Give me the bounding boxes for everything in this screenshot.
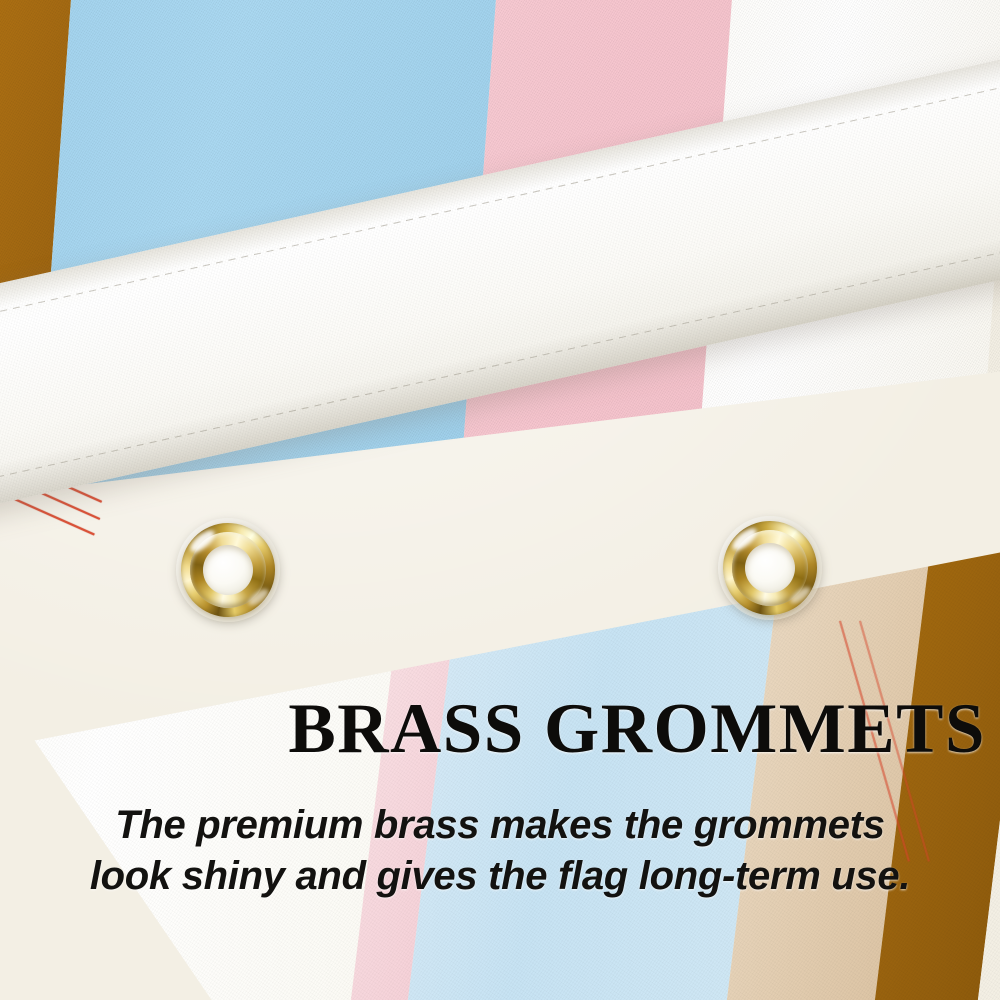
headline-text: BRASS GROMMETS — [0, 694, 986, 765]
brass-grommet-left[interactable] — [166, 508, 289, 631]
brass-grommet-right[interactable] — [708, 506, 831, 629]
subcopy-line-1: The premium brass makes the grommets — [0, 800, 1000, 851]
subcopy-text: The premium brass makes the grommets loo… — [0, 800, 1000, 902]
subcopy-line-2: look shiny and gives the flag long-term … — [0, 851, 1000, 902]
product-image-canvas: BRASS GROMMETS The premium brass makes t… — [0, 0, 1000, 1000]
